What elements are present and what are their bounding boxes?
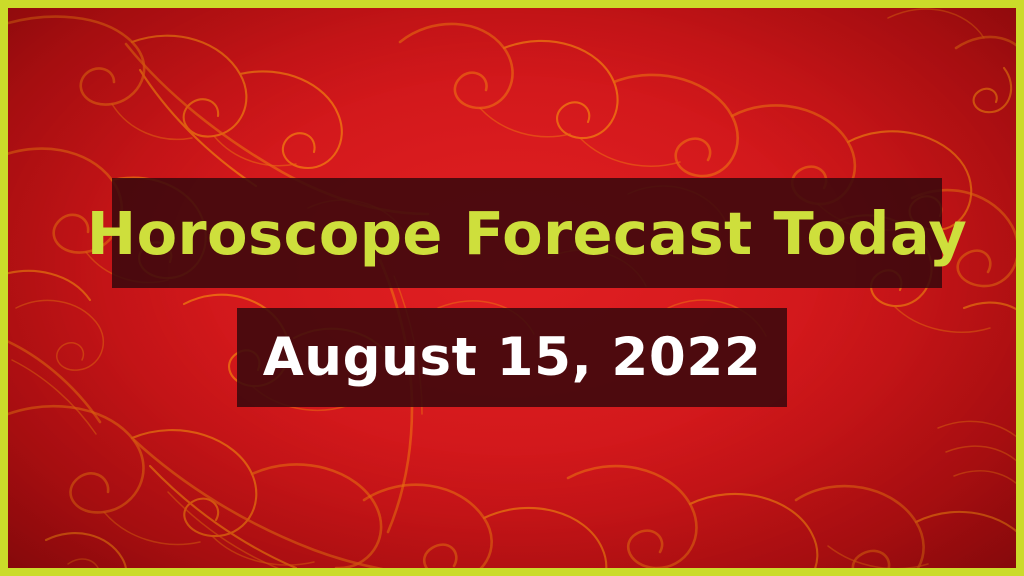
date-banner: August 15, 2022: [237, 308, 787, 407]
poster-background: [8, 8, 1016, 568]
page-title: Horoscope Forecast Today: [87, 204, 967, 263]
title-banner: Horoscope Forecast Today: [112, 178, 942, 288]
horoscope-poster: Horoscope Forecast Today August 15, 2022: [0, 0, 1024, 576]
cloud-swirl-pattern: [8, 8, 1016, 568]
date-label: August 15, 2022: [263, 331, 762, 384]
